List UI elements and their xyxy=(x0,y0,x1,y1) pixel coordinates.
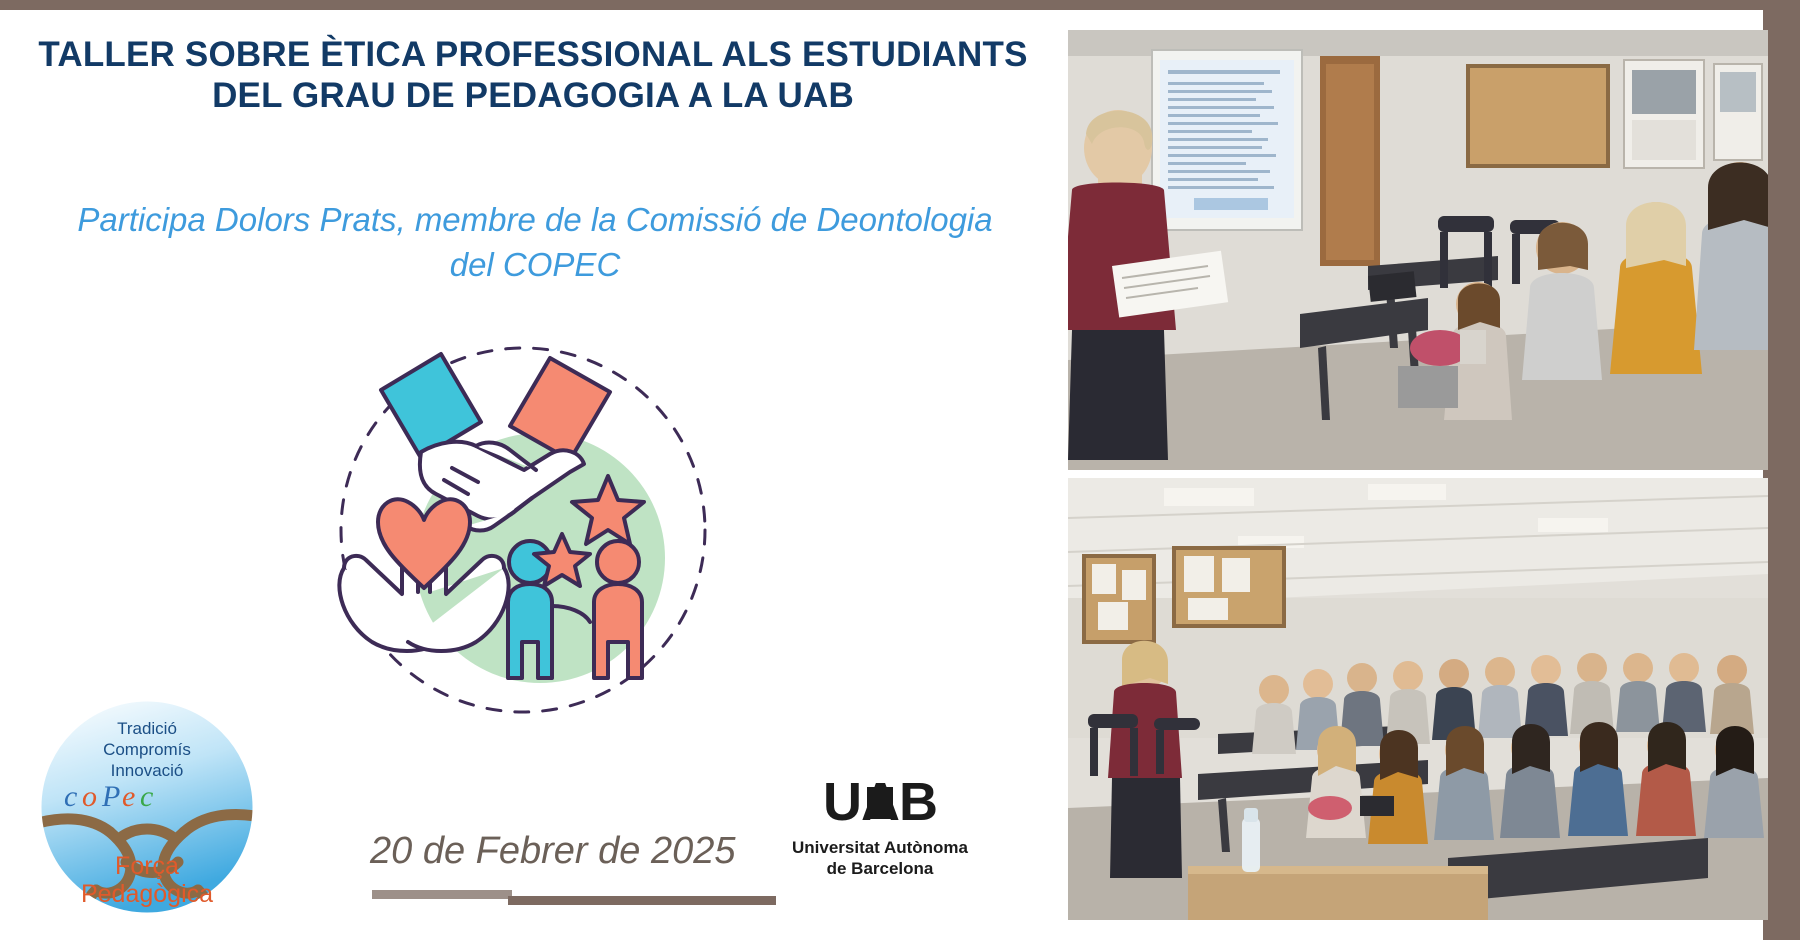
uab-name-line2: de Barcelona xyxy=(780,858,980,879)
uab-wordmark-bar xyxy=(867,787,893,819)
photo-classroom-audience xyxy=(1068,478,1768,920)
photo-speaker-presenting xyxy=(1068,30,1768,470)
left-content-column: TALLER SOBRE ÈTICA PROFESSIONAL ALS ESTU… xyxy=(0,10,1068,940)
svg-text:e: e xyxy=(122,780,135,813)
event-date: 20 de Febrer de 2025 xyxy=(370,830,736,873)
uab-name-line1: Universitat Autònoma xyxy=(780,837,980,858)
frame-border-right xyxy=(1763,0,1800,940)
copec-line3: Innovació xyxy=(111,761,184,780)
copec-line1: Tradició xyxy=(117,719,177,738)
svg-text:o: o xyxy=(82,780,97,813)
svg-text:P: P xyxy=(101,780,120,813)
handshake-illustration xyxy=(318,330,738,730)
copec-logo: Tradició Compromís Innovació c o P e c F… xyxy=(38,698,256,916)
page-subtitle: Participa Dolors Prats, membre de la Com… xyxy=(60,198,1010,287)
page-title: TALLER SOBRE ÈTICA PROFESSIONAL ALS ESTU… xyxy=(0,34,1066,117)
date-rule-dark xyxy=(508,896,776,905)
uab-logo: UAB Universitat Autònoma de Barcelona xyxy=(780,775,980,880)
svg-text:c: c xyxy=(64,780,77,813)
poster-canvas: TALLER SOBRE ÈTICA PROFESSIONAL ALS ESTU… xyxy=(0,0,1800,940)
uab-wordmark: UAB xyxy=(805,775,955,831)
frame-border-top xyxy=(0,0,1800,10)
copec-line2: Compromís xyxy=(103,740,191,759)
copec-tagline-2: Pedagògica xyxy=(81,880,213,908)
svg-text:c: c xyxy=(140,780,153,813)
copec-tagline-1: Força xyxy=(115,852,179,880)
date-rule-light xyxy=(372,890,512,899)
